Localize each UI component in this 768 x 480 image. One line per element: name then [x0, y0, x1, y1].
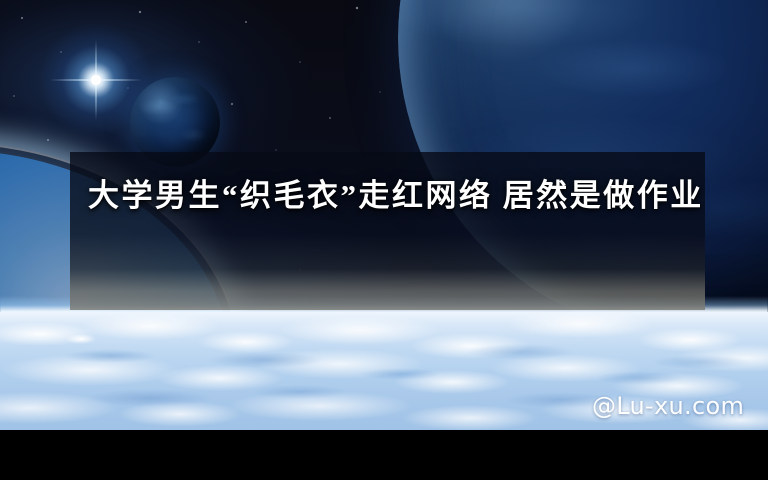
- bright-star-core: [91, 75, 101, 85]
- cloud-highlight-peak: [66, 334, 96, 344]
- bottom-black-bar: [0, 430, 768, 480]
- headline-text: 大学男生“织毛衣”走红网络 居然是做作业: [88, 168, 708, 224]
- thumbnail-stage: 大学男生“织毛衣”走红网络 居然是做作业 @Lu-xu.com: [0, 0, 768, 480]
- site-watermark: @Lu-xu.com: [592, 392, 744, 420]
